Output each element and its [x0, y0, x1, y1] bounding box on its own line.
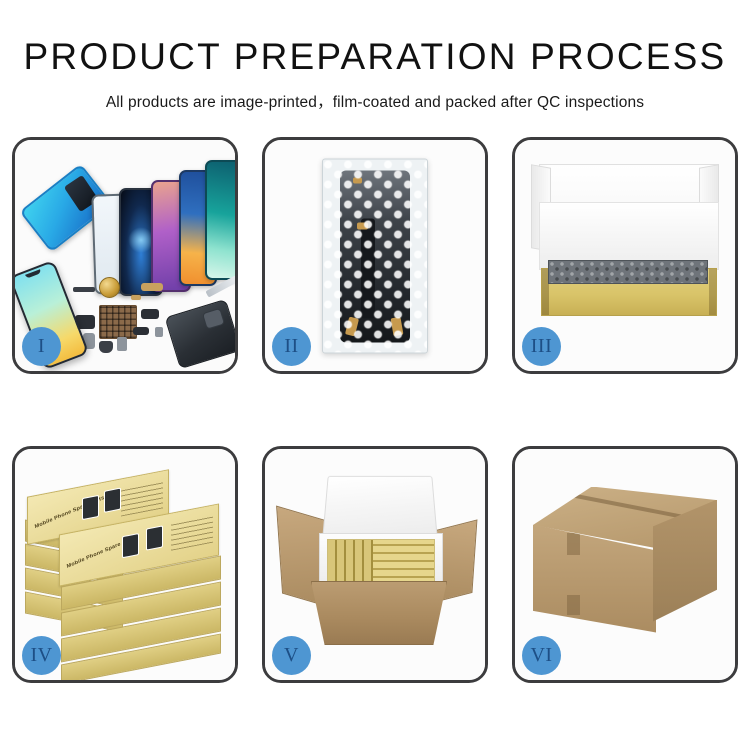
page-header: PRODUCT PREPARATION PROCESS All products…: [0, 0, 750, 112]
step-badge-4: IV: [22, 636, 61, 675]
infographic-page: PRODUCT PREPARATION PROCESS All products…: [0, 0, 750, 750]
phone-teal: [205, 160, 235, 280]
step-panel-3[interactable]: III: [512, 137, 738, 374]
screw-tray: [99, 305, 137, 339]
step-badge-3: III: [522, 327, 561, 366]
foam-lid: [322, 476, 438, 542]
foam-bubble-insert: [548, 260, 708, 284]
bubble-texture: [323, 159, 427, 352]
packed-yellow-boxes: [327, 539, 435, 585]
page-subtitle: All products are image-printed，film-coat…: [0, 90, 750, 112]
step-panel-2[interactable]: II: [262, 137, 488, 374]
step-badge-2: II: [272, 327, 311, 366]
carton-body: [311, 581, 447, 645]
step-badge-6: VI: [522, 636, 561, 675]
process-step-grid: I II: [12, 137, 738, 683]
step-panel-4[interactable]: Mobile Phone Spare Parts Mobile Phone Sp…: [12, 446, 238, 683]
kraft-inner-box: [541, 268, 717, 316]
step-badge-1: I: [22, 327, 61, 366]
step-panel-1[interactable]: I: [12, 137, 238, 374]
bubble-wrap-bag: [322, 158, 428, 353]
spare-parts-scatter: [73, 275, 235, 367]
gold-coil-icon: [99, 277, 120, 298]
page-title: PRODUCT PREPARATION PROCESS: [0, 38, 750, 75]
phone-back-housing: [165, 299, 235, 369]
tweezers-icon: [205, 275, 235, 297]
step-panel-6[interactable]: VI: [512, 446, 738, 683]
step-badge-5: V: [272, 636, 311, 675]
step-panel-5[interactable]: V: [262, 446, 488, 683]
